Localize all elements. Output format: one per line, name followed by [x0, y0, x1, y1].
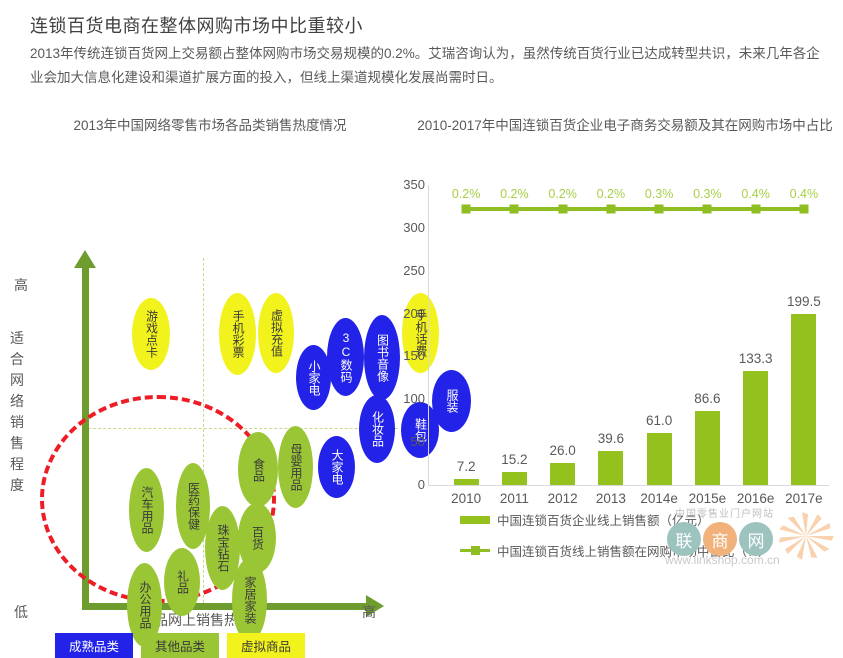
- y-axis-caption: 适合网络销售程度: [8, 328, 26, 496]
- bubble-18: 礼品: [164, 548, 200, 616]
- right-chart-title: 2010-2017年中国连锁百货企业电子商务交易额及其在网购市场中占比: [415, 116, 835, 135]
- y-axis-tick: 150: [385, 348, 425, 363]
- bubble-4: 小家电: [296, 345, 331, 410]
- bar-2017e: [791, 314, 816, 485]
- bubble-11: 母婴用品: [278, 426, 313, 508]
- x-axis-line: [82, 603, 372, 610]
- page-title: 连锁百货电商在整体网购市场中比重较小: [30, 12, 363, 38]
- bubble-1: 手机彩票: [219, 293, 256, 375]
- line-marker: [703, 205, 712, 214]
- bar-2013: [598, 451, 623, 485]
- bar-value-label: 86.6: [694, 391, 720, 406]
- legend-chip-2: 虚拟商品: [227, 633, 305, 658]
- bubble-label: 大家电: [330, 449, 343, 485]
- percent-value-label: 0.3%: [645, 187, 674, 201]
- y-axis-tick: 50: [385, 434, 425, 449]
- x-axis-tick: 2013: [596, 491, 626, 506]
- bar-value-label: 15.2: [501, 452, 527, 467]
- bar-2014e: [647, 433, 672, 485]
- bar-2016e: [743, 371, 768, 485]
- percent-value-label: 0.4%: [790, 187, 819, 201]
- bubble-5: 3C数码: [327, 318, 364, 396]
- bar-value-label: 39.6: [598, 431, 624, 446]
- bar-value-label: 199.5: [787, 294, 821, 309]
- bubble-17: 汽车用品: [129, 468, 164, 552]
- bubble-label: 化妆品: [371, 411, 384, 447]
- bubble-label: 礼品: [176, 570, 189, 594]
- y-axis-tick: 100: [385, 391, 425, 406]
- bubble-label: 虚拟充值: [270, 309, 283, 357]
- bubble-label: 食品: [252, 458, 265, 482]
- right-chart-legend: 中国连锁百货企业线上销售额（亿元） 中国连锁百货线上销售额在网购市场中占比（%）: [460, 510, 771, 572]
- bubble-2: 虚拟充值: [258, 293, 294, 373]
- bar-value-label: 133.3: [739, 351, 773, 366]
- percent-value-label: 0.2%: [500, 187, 529, 201]
- x-axis-tick: 2016e: [737, 491, 775, 506]
- bubble-12: 食品: [238, 432, 278, 507]
- y-axis-tick: 300: [385, 220, 425, 235]
- percent-value-label: 0.2%: [597, 187, 626, 201]
- bubble-0: 游戏点卡: [132, 298, 170, 370]
- x-axis-tick: 2017e: [785, 491, 823, 506]
- line-marker: [799, 205, 808, 214]
- page-subtitle: 2013年传统连锁百货网上交易额占整体网购市场交易规模的0.2%。艾瑞咨询认为，…: [30, 42, 820, 90]
- bar-chart-plot-area: 3503002502001501005007.2201015.2201126.0…: [428, 185, 828, 485]
- percent-value-label: 0.4%: [741, 187, 770, 201]
- bubble-label: 游戏点卡: [145, 310, 158, 358]
- bar-value-label: 61.0: [646, 413, 672, 428]
- legend-bar-swatch: [460, 516, 490, 524]
- bubble-label: 百货: [251, 526, 264, 550]
- x-axis-tick: 2014e: [640, 491, 678, 506]
- bubble-15: 家居家装: [232, 558, 267, 642]
- bubble-label: 珠宝钻石: [216, 524, 229, 572]
- y-axis-tick: 0: [385, 477, 425, 492]
- bar-value-label: 7.2: [457, 459, 476, 474]
- line-marker: [606, 205, 615, 214]
- line-marker: [655, 205, 664, 214]
- right-chart-panel: 2010-2017年中国连锁百货企业电子商务交易额及其在网购市场中占比 3503…: [400, 110, 843, 566]
- bubble-label: 小家电: [307, 360, 320, 396]
- bubble-label: 办公用品: [138, 581, 151, 629]
- left-chart-legend: 成熟品类其他品类虚拟商品: [55, 633, 305, 658]
- legend-chip-1: 其他品类: [141, 633, 219, 658]
- bubble-label: 3C数码: [339, 331, 352, 383]
- percent-value-label: 0.2%: [548, 187, 577, 201]
- legend-line-label: 中国连锁百货线上销售额在网购市场中占比（%）: [497, 541, 771, 560]
- y-axis-tick: 200: [385, 306, 425, 321]
- bar-2011: [502, 472, 527, 485]
- percent-value-label: 0.3%: [693, 187, 722, 201]
- bubble-label: 医药保健: [187, 482, 200, 530]
- x-axis-tick: 2010: [451, 491, 481, 506]
- bubble-label: 家居家装: [243, 576, 256, 624]
- bubble-16: 医药保健: [176, 463, 210, 549]
- line-marker: [510, 205, 519, 214]
- legend-item-bar-series: 中国连锁百货企业线上销售额（亿元）: [460, 510, 771, 529]
- bar-2012: [550, 463, 575, 485]
- x-axis-tick: 2012: [548, 491, 578, 506]
- y-axis-tick: 250: [385, 263, 425, 278]
- line-marker: [558, 205, 567, 214]
- percent-value-label: 0.2%: [452, 187, 481, 201]
- x-axis-high-label: 高: [362, 602, 376, 622]
- x-axis-tick: 2011: [500, 491, 529, 506]
- left-chart-panel: 2013年中国网络零售市场各品类销售热度情况 高 低 适合网络销售程度 高 商品…: [0, 110, 400, 566]
- x-axis-tick: 2015e: [689, 491, 727, 506]
- bar-2010: [454, 479, 479, 485]
- y-axis-arrowhead-icon: [74, 250, 96, 268]
- bar-2015e: [695, 411, 720, 485]
- legend-chip-0: 成熟品类: [55, 633, 133, 658]
- y-axis-low-label: 低: [14, 602, 28, 622]
- bubble-10: 大家电: [318, 436, 355, 498]
- bubble-label: 母婴用品: [289, 443, 302, 491]
- line-marker: [751, 205, 760, 214]
- y-axis-tick: 350: [385, 177, 425, 192]
- y-axis-high-label: 高: [14, 275, 28, 295]
- line-marker: [462, 205, 471, 214]
- bubble-label: 汽车用品: [140, 486, 153, 534]
- legend-line-swatch: [460, 546, 490, 555]
- bubble-label: 手机彩票: [231, 310, 244, 358]
- legend-item-line-series: 中国连锁百货线上销售额在网购市场中占比（%）: [460, 541, 771, 560]
- left-chart-title: 2013年中国网络零售市场各品类销售热度情况: [40, 116, 380, 135]
- legend-bar-label: 中国连锁百货企业线上销售额（亿元）: [497, 510, 710, 529]
- bar-value-label: 26.0: [549, 443, 575, 458]
